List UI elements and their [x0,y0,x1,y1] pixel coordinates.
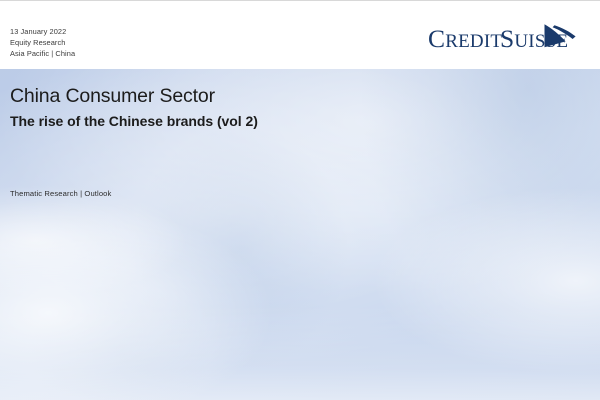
report-category: Thematic Research | Outlook [10,189,111,198]
report-region: Asia Pacific | China [10,48,75,59]
title-block: China Consumer Sector The rise of the Ch… [10,84,570,130]
credit-suisse-logo: CREDIT SUISSE [428,17,588,55]
report-metadata: 13 January 2022 Equity Research Asia Pac… [10,26,75,59]
report-cover-page: 13 January 2022 Equity Research Asia Pac… [0,0,600,400]
logo-wordmark-credit: CREDIT [428,24,502,53]
page-title: China Consumer Sector [10,84,570,108]
report-division: Equity Research [10,37,75,48]
report-date: 13 January 2022 [10,26,75,37]
header-band: 13 January 2022 Equity Research Asia Pac… [0,1,600,69]
page-subtitle: The rise of the Chinese brands (vol 2) [10,113,570,130]
